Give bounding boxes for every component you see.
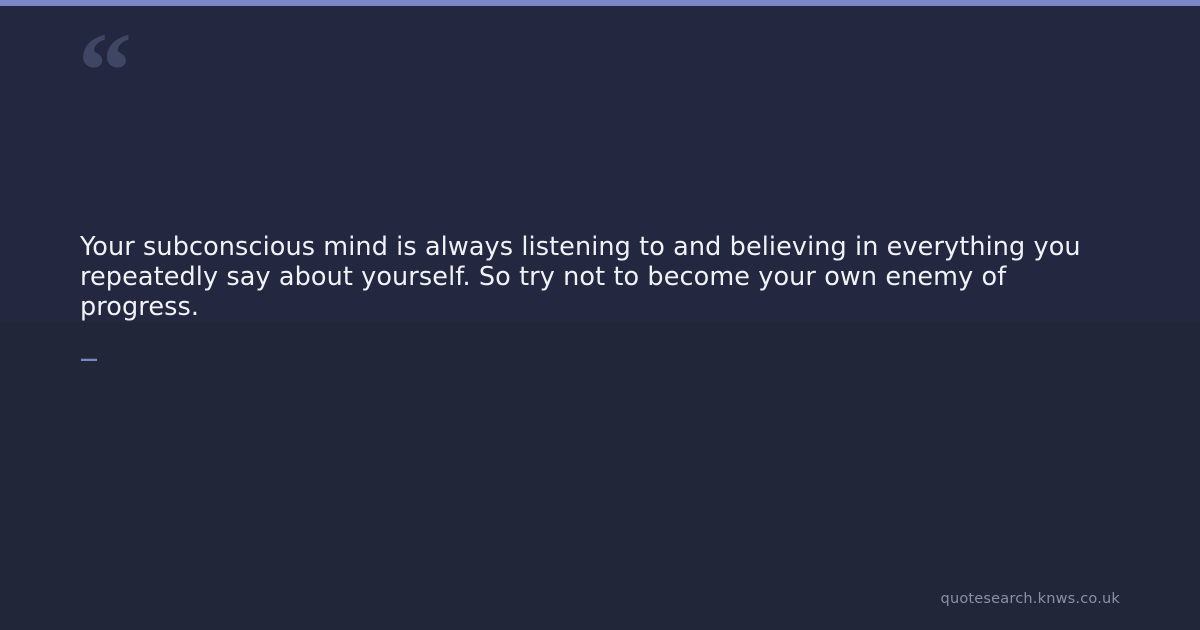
open-quote-icon: “ (78, 18, 198, 98)
background-band-lower (0, 322, 1200, 630)
quote-card: “ Your subconscious mind is always liste… (0, 0, 1200, 630)
attribution-dash: — (80, 348, 98, 372)
site-url-label: quotesearch.knws.co.uk (941, 590, 1120, 608)
quote-text: Your subconscious mind is always listeni… (80, 232, 1130, 322)
quote-attribution: — (80, 348, 106, 372)
top-accent-bar (0, 0, 1200, 6)
